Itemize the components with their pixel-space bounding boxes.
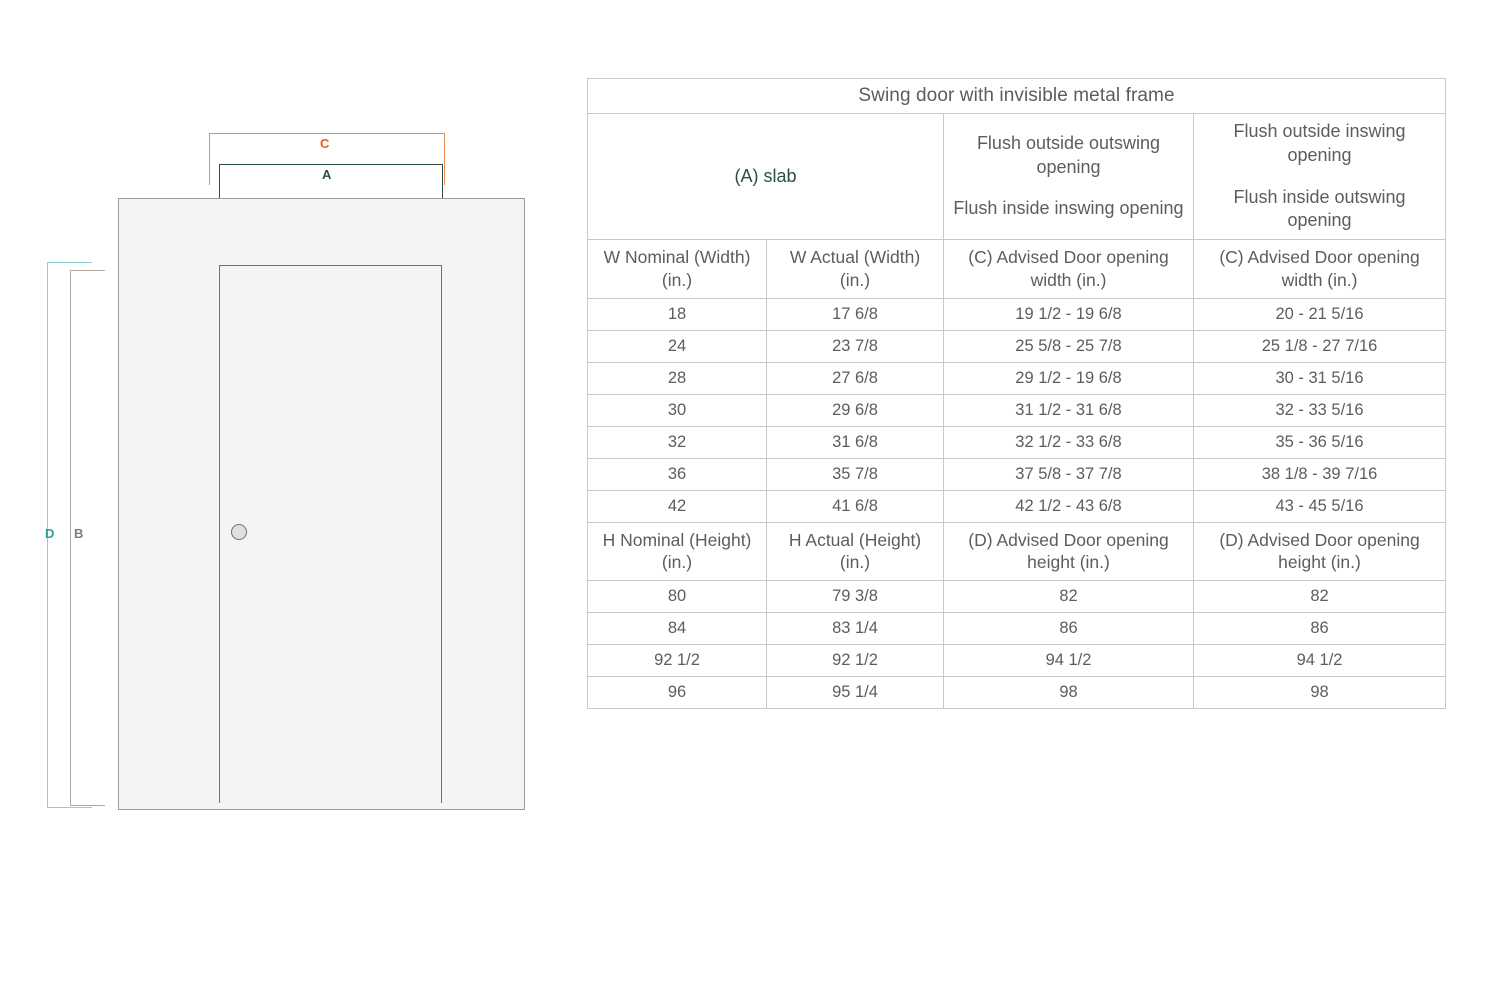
cell-width-nominal: 42 (588, 490, 767, 522)
width-header-row: W Nominal (Width) (in.) W Actual (Width)… (588, 240, 1446, 299)
cell-width-outswing: 19 1/2 - 19 6/8 (944, 298, 1194, 330)
table-row: 96 95 1/4 98 98 (588, 677, 1446, 709)
cell-height-actual: 83 1/4 (767, 613, 944, 645)
cell-width-actual: 35 7/8 (767, 458, 944, 490)
cell-height-outswing: 94 1/2 (944, 645, 1194, 677)
cell-width-inswing: 20 - 21 5/16 (1194, 298, 1446, 330)
cell-width-actual: 31 6/8 (767, 426, 944, 458)
cell-width-inswing: 38 1/8 - 39 7/16 (1194, 458, 1446, 490)
cell-width-outswing: 31 1/2 - 31 6/8 (944, 394, 1194, 426)
cell-height-inswing: 98 (1194, 677, 1446, 709)
height-header-opening-inswing: (D) Advised Door opening height (in.) (1194, 522, 1446, 581)
cell-height-outswing: 82 (944, 581, 1194, 613)
cell-width-actual: 27 6/8 (767, 362, 944, 394)
group-header-outswing-line2: Flush inside inswing opening (950, 197, 1187, 221)
table-row: 42 41 6/8 42 1/2 - 43 6/8 43 - 45 5/16 (588, 490, 1446, 522)
cell-height-nominal: 92 1/2 (588, 645, 767, 677)
table-row: 18 17 6/8 19 1/2 - 19 6/8 20 - 21 5/16 (588, 298, 1446, 330)
cell-height-nominal: 84 (588, 613, 767, 645)
table-row: 28 27 6/8 29 1/2 - 19 6/8 30 - 31 5/16 (588, 362, 1446, 394)
cell-width-inswing: 43 - 45 5/16 (1194, 490, 1446, 522)
height-header-actual: H Actual (Height) (in.) (767, 522, 944, 581)
cell-width-actual: 41 6/8 (767, 490, 944, 522)
table-row: 80 79 3/8 82 82 (588, 581, 1446, 613)
dimension-label-c: C (320, 137, 330, 150)
table-row: 92 1/2 92 1/2 94 1/2 94 1/2 (588, 645, 1446, 677)
door-diagram: C A D B (0, 0, 580, 1000)
group-header-inswing-line1: Flush outside inswing opening (1200, 120, 1439, 168)
cell-width-inswing: 30 - 31 5/16 (1194, 362, 1446, 394)
width-header-opening-inswing: (C) Advised Door opening width (in.) (1194, 240, 1446, 299)
cell-width-outswing: 37 5/8 - 37 7/8 (944, 458, 1194, 490)
height-header-nominal: H Nominal (Height) (in.) (588, 522, 767, 581)
table-title: Swing door with invisible metal frame (588, 79, 1446, 114)
door-knob-icon (231, 524, 247, 540)
table-row: 30 29 6/8 31 1/2 - 31 6/8 32 - 33 5/16 (588, 394, 1446, 426)
dimension-label-a: A (322, 168, 332, 181)
width-header-actual: W Actual (Width) (in.) (767, 240, 944, 299)
door-size-specification-table: Swing door with invisible metal frame (A… (587, 78, 1446, 709)
group-header-outswing-line1: Flush outside outswing opening (950, 132, 1187, 180)
group-header-slab-label: (A) slab (734, 166, 796, 186)
cell-height-inswing: 82 (1194, 581, 1446, 613)
cell-height-actual: 92 1/2 (767, 645, 944, 677)
group-header-inswing-line2: Flush inside outswing opening (1200, 186, 1439, 234)
cell-height-inswing: 86 (1194, 613, 1446, 645)
group-header-inswing: Flush outside inswing opening Flush insi… (1194, 114, 1446, 240)
cell-height-nominal: 96 (588, 677, 767, 709)
cell-width-actual: 29 6/8 (767, 394, 944, 426)
cell-width-nominal: 28 (588, 362, 767, 394)
table-row: 24 23 7/8 25 5/8 - 25 7/8 25 1/8 - 27 7/… (588, 330, 1446, 362)
cell-width-outswing: 25 5/8 - 25 7/8 (944, 330, 1194, 362)
group-header-slab: (A) slab (588, 114, 944, 240)
group-header-outswing: Flush outside outswing opening Flush ins… (944, 114, 1194, 240)
table-row: 36 35 7/8 37 5/8 - 37 7/8 38 1/8 - 39 7/… (588, 458, 1446, 490)
door-slab-outline (219, 265, 442, 803)
dimension-label-d: D (45, 527, 55, 540)
width-header-nominal: W Nominal (Width) (in.) (588, 240, 767, 299)
table-group-header-row: (A) slab Flush outside outswing opening … (588, 114, 1446, 240)
table-row: 32 31 6/8 32 1/2 - 33 6/8 35 - 36 5/16 (588, 426, 1446, 458)
cell-width-inswing: 32 - 33 5/16 (1194, 394, 1446, 426)
cell-width-outswing: 42 1/2 - 43 6/8 (944, 490, 1194, 522)
cell-width-nominal: 18 (588, 298, 767, 330)
table-title-row: Swing door with invisible metal frame (588, 79, 1446, 114)
cell-width-nominal: 24 (588, 330, 767, 362)
cell-width-inswing: 35 - 36 5/16 (1194, 426, 1446, 458)
cell-height-actual: 95 1/4 (767, 677, 944, 709)
cell-width-nominal: 36 (588, 458, 767, 490)
cell-width-inswing: 25 1/8 - 27 7/16 (1194, 330, 1446, 362)
cell-width-actual: 17 6/8 (767, 298, 944, 330)
height-header-row: H Nominal (Height) (in.) H Actual (Heigh… (588, 522, 1446, 581)
cell-width-outswing: 29 1/2 - 19 6/8 (944, 362, 1194, 394)
height-header-opening-outswing: (D) Advised Door opening height (in.) (944, 522, 1194, 581)
cell-width-nominal: 32 (588, 426, 767, 458)
cell-height-outswing: 86 (944, 613, 1194, 645)
cell-width-nominal: 30 (588, 394, 767, 426)
cell-height-outswing: 98 (944, 677, 1194, 709)
cell-height-actual: 79 3/8 (767, 581, 944, 613)
cell-height-nominal: 80 (588, 581, 767, 613)
dimension-label-b: B (74, 527, 84, 540)
cell-height-inswing: 94 1/2 (1194, 645, 1446, 677)
table-row: 84 83 1/4 86 86 (588, 613, 1446, 645)
cell-width-actual: 23 7/8 (767, 330, 944, 362)
cell-width-outswing: 32 1/2 - 33 6/8 (944, 426, 1194, 458)
width-header-opening-outswing: (C) Advised Door opening width (in.) (944, 240, 1194, 299)
